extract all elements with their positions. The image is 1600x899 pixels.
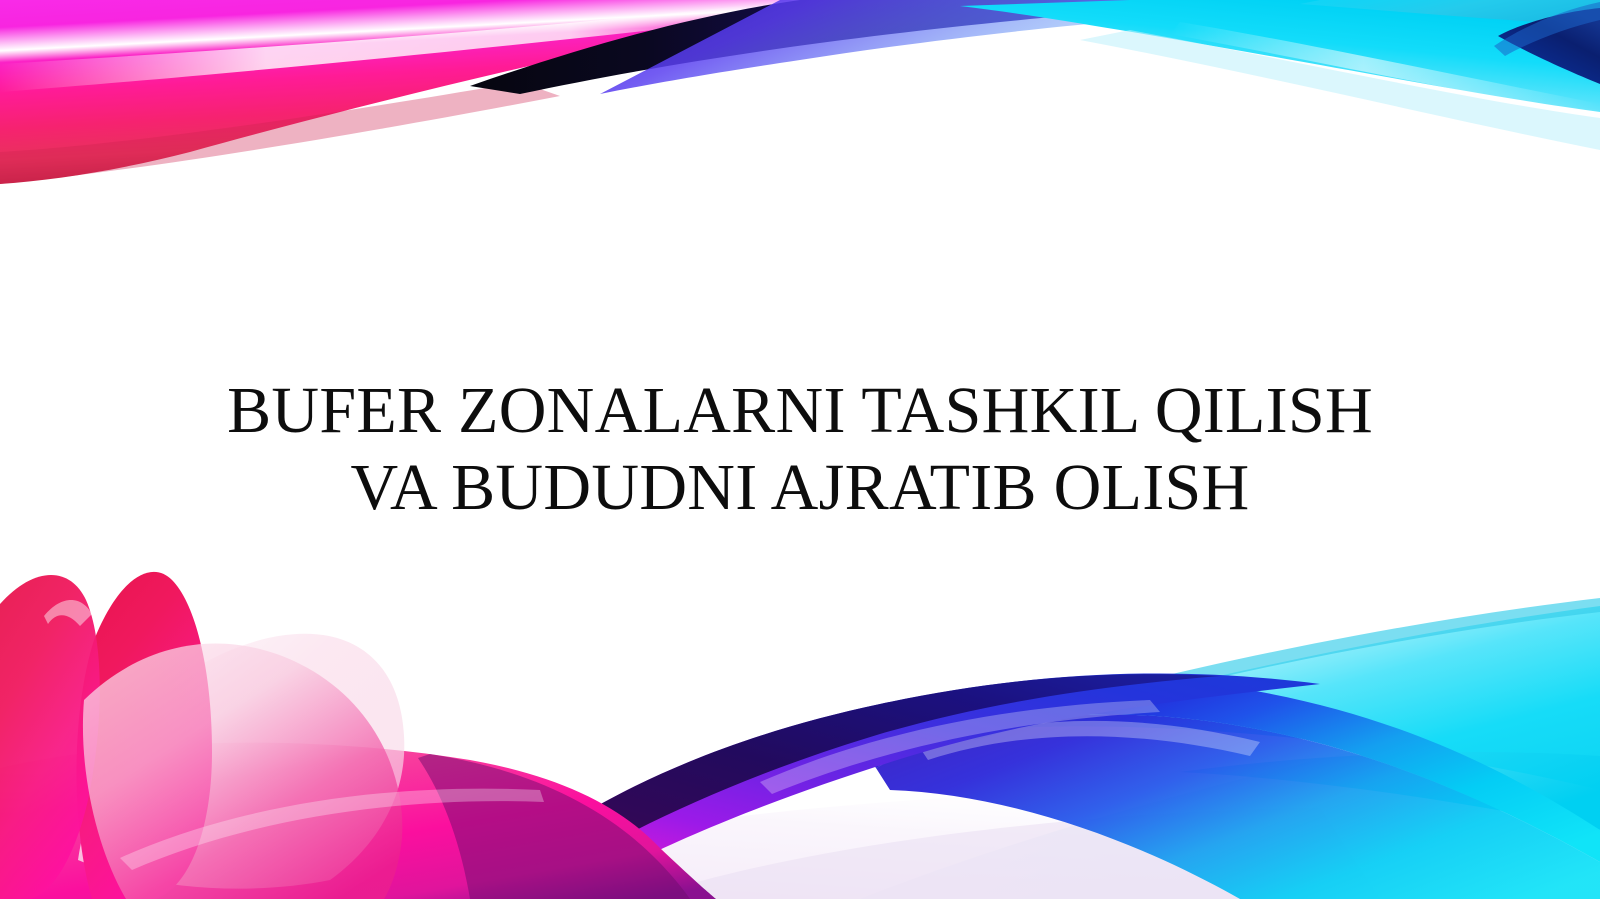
background-artwork	[0, 0, 1600, 899]
title-slide: BUFER ZONALARNI TASHKIL QILISH VA BUDUDN…	[0, 0, 1600, 899]
